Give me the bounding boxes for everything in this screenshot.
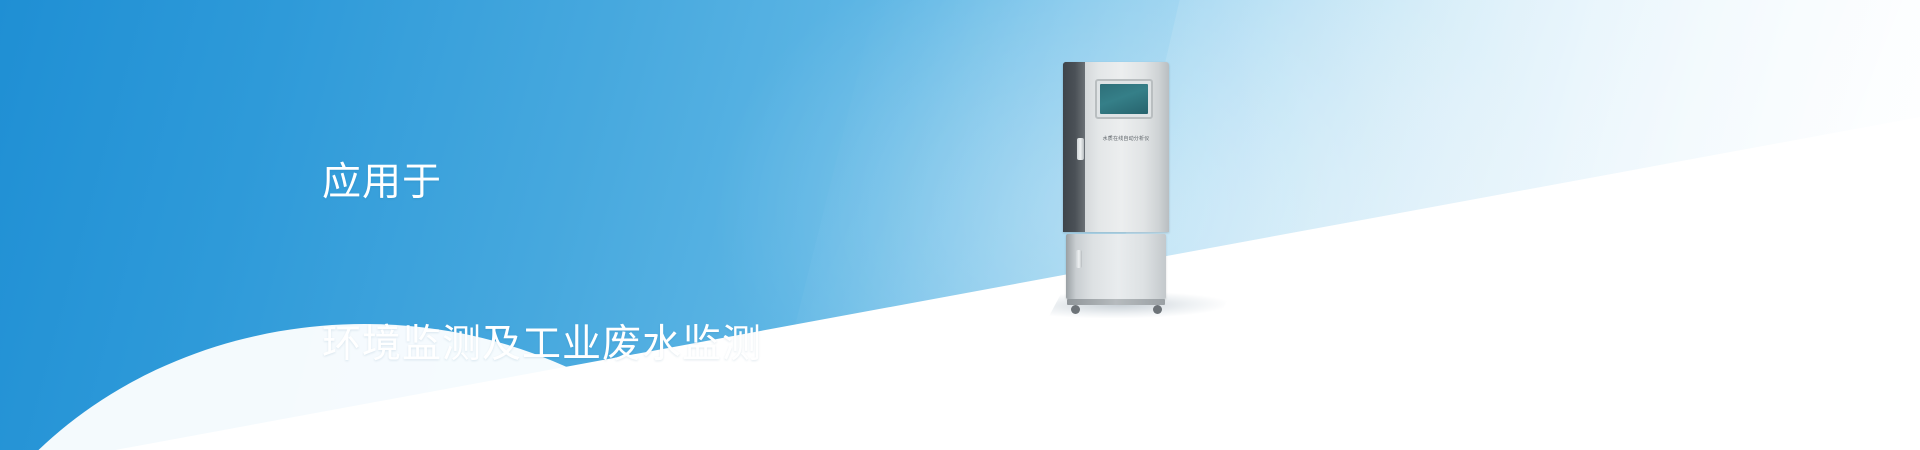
banner-copy-block: 应用于 环境监测及工业废水监测 自动标定/自动清洗/自动恢复/标定核查 点击了解 [322,48,962,450]
hero-banner: 应用于 环境监测及工业废水监测 自动标定/自动清洗/自动恢复/标定核查 点击了解… [0,0,1920,450]
product-image-water-analyzer: 水质在线自动分析仪 [1063,62,1169,312]
door-handle-upper [1077,138,1084,160]
product-label: 水质在线自动分析仪 [1089,136,1163,143]
caster-wheel-left [1071,305,1080,314]
caster-wheel-right [1153,305,1162,314]
cabinet-base [1067,299,1165,305]
headline-line-1: 应用于 [322,156,962,210]
headline-line-2: 环境监测及工业废水监测 [322,318,962,372]
display-screen [1095,79,1153,119]
page-title: 应用于 环境监测及工业废水监测 [322,48,962,450]
display-screen-surface [1100,84,1148,114]
door-handle-lower [1076,250,1082,268]
